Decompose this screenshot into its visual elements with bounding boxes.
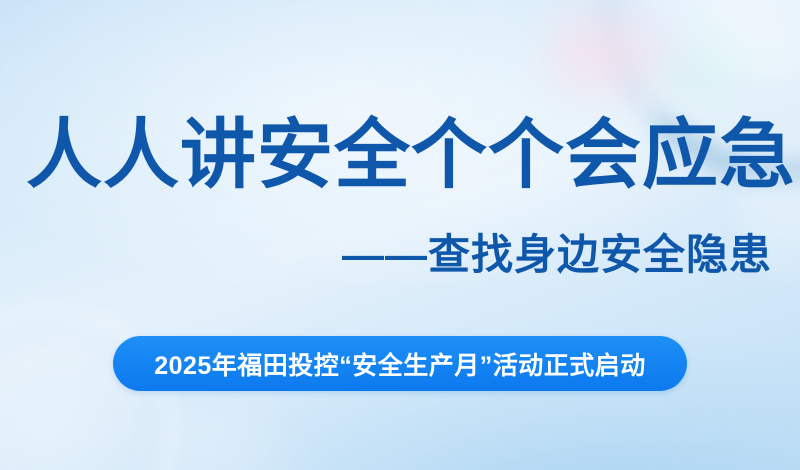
headline-phrase-one: 人人讲安全	[26, 118, 411, 194]
announcement-banner: 2025年福田投控“安全生产月”活动正式启动	[113, 336, 687, 391]
headline-phrase-two: 个个会应急	[411, 118, 796, 194]
headline: 人人讲安全 个个会应急	[26, 118, 774, 194]
poster-content: 人人讲安全 个个会应急 ——查找身边安全隐患 2025年福田投控“安全生产月”活…	[0, 0, 800, 470]
safety-campaign-poster: 人人讲安全 个个会应急 ——查找身边安全隐患 2025年福田投控“安全生产月”活…	[0, 0, 800, 470]
announcement-banner-text: 2025年福田投控“安全生产月”活动正式启动	[154, 346, 646, 382]
subtitle: ——查找身边安全隐患	[342, 234, 772, 276]
